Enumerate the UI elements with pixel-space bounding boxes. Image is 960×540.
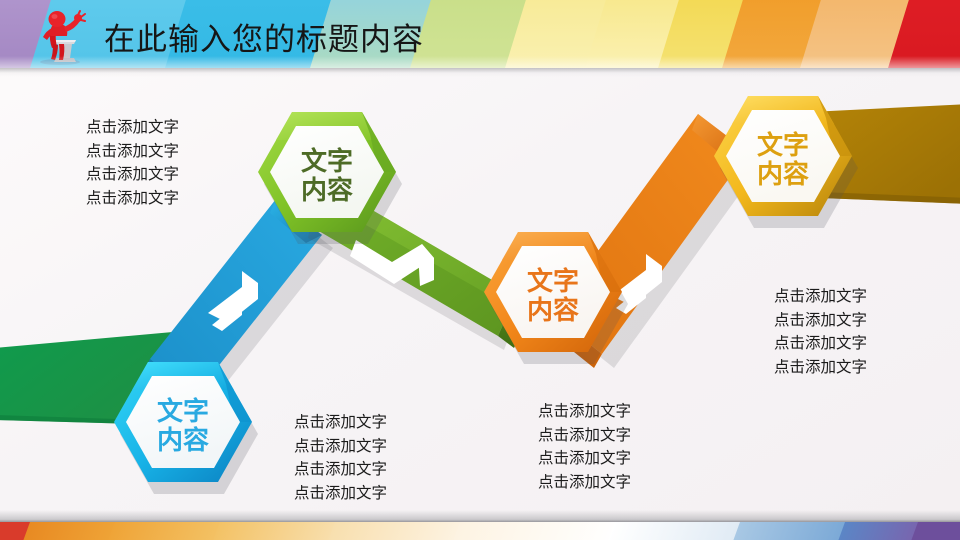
node-1-text-block: 点击添加文字 点击添加文字 点击添加文字 点击添加文字 <box>294 411 494 505</box>
footer-stripe-white <box>453 522 620 540</box>
footer-stripe-orange <box>23 522 120 540</box>
footer-gloss <box>0 510 960 522</box>
node-4[interactable]: 文字 内容 <box>708 92 858 234</box>
footer-stripe-purple <box>911 522 960 540</box>
node-3-text-block: 点击添加文字 点击添加文字 点击添加文字 点击添加文字 <box>538 400 738 494</box>
slide-title: 在此输入您的标题内容 <box>104 14 424 59</box>
footer-stripe-blue <box>733 522 850 540</box>
header-gloss <box>0 56 960 68</box>
node-2-text-block: 点击添加文字 点击添加文字 点击添加文字 点击添加文字 <box>86 116 286 210</box>
slide-canvas: 在此输入您的标题内容 <box>0 0 960 540</box>
footer-stripe-cream <box>328 522 465 540</box>
node-3[interactable]: 文字 内容 <box>478 228 628 370</box>
footer-stripe-gold <box>213 522 340 540</box>
header-shadow <box>0 68 960 77</box>
slide-footer <box>0 522 960 540</box>
footer-stripe-amber <box>108 522 225 540</box>
node-4-text-block: 点击添加文字 点击添加文字 点击添加文字 点击添加文字 <box>774 285 960 379</box>
node-1[interactable]: 文字 内容 <box>108 358 258 500</box>
footer-stripe-pale-blue <box>608 522 745 540</box>
